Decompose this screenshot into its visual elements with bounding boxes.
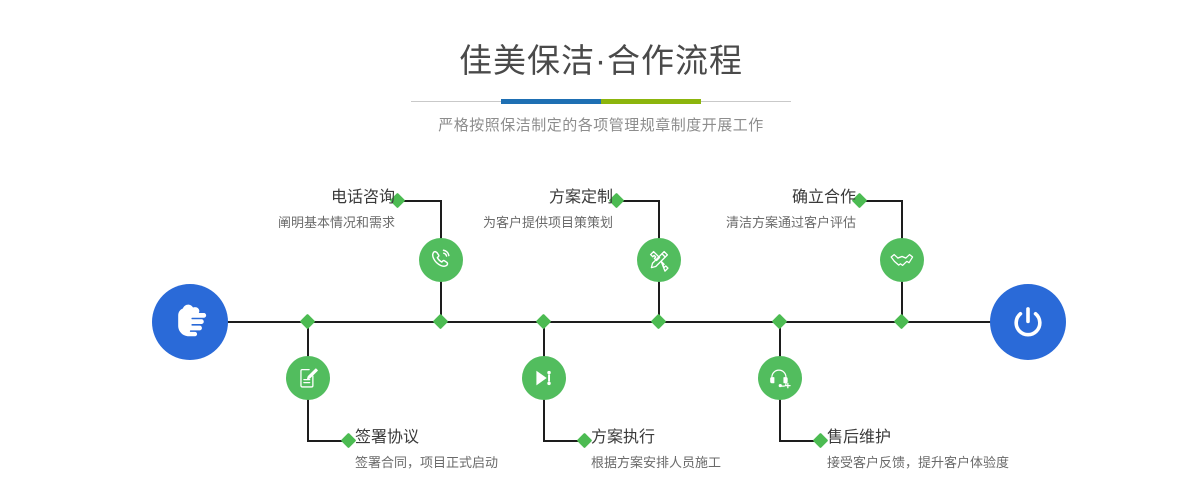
header: 佳美保洁·合作流程 严格按照保洁制定的各项管理规章制度开展工作: [0, 0, 1202, 137]
step-5-desc: 清洁方案通过客户评估: [645, 213, 856, 232]
step-3-icon-badge: [637, 238, 681, 282]
pencil-ruler-icon: [646, 247, 672, 273]
title-divider: [411, 99, 791, 104]
step-6-axis-marker: [772, 314, 788, 330]
timeline-end-badge: [990, 284, 1066, 360]
page-title: 佳美保洁·合作流程: [0, 0, 1202, 82]
headset-support-icon: [767, 365, 793, 391]
divider-segment-blue: [501, 99, 601, 104]
step-3-desc: 为客户提供项目策策划: [405, 213, 613, 232]
step-5-icon-badge: [880, 238, 924, 282]
step-1-title: 电话咨询: [185, 188, 395, 208]
step-5-title: 确立合作: [645, 188, 856, 208]
power-icon: [1007, 301, 1049, 343]
step-6-title: 售后维护: [827, 428, 1117, 448]
step-6-desc: 接受客户反馈，提升客户体验度: [827, 453, 1117, 472]
step-5-label: 确立合作 清洁方案通过客户评估: [645, 188, 856, 232]
step-4-title: 方案执行: [591, 428, 851, 448]
step-3-axis-marker: [651, 314, 667, 330]
step-4-label: 方案执行 根据方案安排人员施工: [591, 428, 851, 472]
pointing-hand-icon: [169, 301, 211, 343]
step-2-title: 签署协议: [355, 428, 615, 448]
step-1-icon-badge: [419, 238, 463, 282]
handshake-icon: [889, 247, 915, 273]
step-1-desc: 阐明基本情况和需求: [185, 213, 395, 232]
play-execute-icon: [531, 365, 557, 391]
document-sign-icon: [295, 365, 321, 391]
step-2-axis-marker: [300, 314, 316, 330]
step-2-label-marker: [341, 433, 357, 449]
step-5-axis-marker: [894, 314, 910, 330]
step-3-label: 方案定制 为客户提供项目策策划: [405, 188, 613, 232]
step-3-title: 方案定制: [405, 188, 613, 208]
step-2-desc: 签署合同，项目正式启动: [355, 453, 615, 472]
step-1-axis-marker: [433, 314, 449, 330]
phone-call-icon: [428, 247, 454, 273]
step-4-icon-badge: [522, 356, 566, 400]
step-1-label: 电话咨询 阐明基本情况和需求: [185, 188, 395, 232]
step-6-icon-badge: [758, 356, 802, 400]
page-subtitle: 严格按照保洁制定的各项管理规章制度开展工作: [0, 104, 1202, 137]
timeline-start-badge: [152, 284, 228, 360]
step-2-label: 签署协议 签署合同，项目正式启动: [355, 428, 615, 472]
step-4-desc: 根据方案安排人员施工: [591, 453, 851, 472]
step-2-icon-badge: [286, 356, 330, 400]
infographic-canvas: 佳美保洁·合作流程 严格按照保洁制定的各项管理规章制度开展工作: [0, 0, 1202, 502]
divider-segment-green: [601, 99, 701, 104]
step-4-axis-marker: [536, 314, 552, 330]
step-6-label: 售后维护 接受客户反馈，提升客户体验度: [827, 428, 1117, 472]
